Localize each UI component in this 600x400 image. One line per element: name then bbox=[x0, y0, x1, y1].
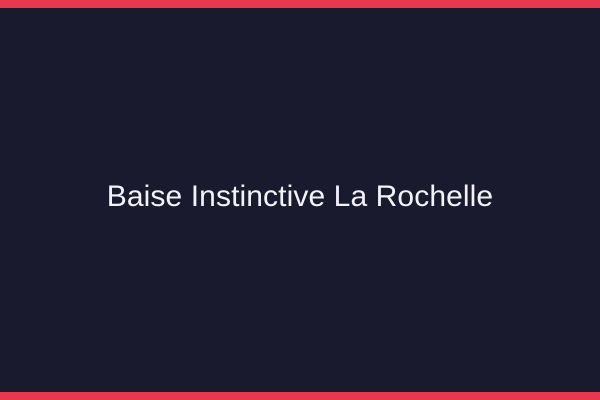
top-accent-bar bbox=[0, 0, 600, 8]
banner-content-area: Baise Instinctive La Rochelle bbox=[0, 8, 600, 392]
placeholder-banner: Baise Instinctive La Rochelle bbox=[0, 0, 600, 400]
bottom-accent-bar bbox=[0, 392, 600, 400]
banner-title: Baise Instinctive La Rochelle bbox=[91, 179, 509, 215]
